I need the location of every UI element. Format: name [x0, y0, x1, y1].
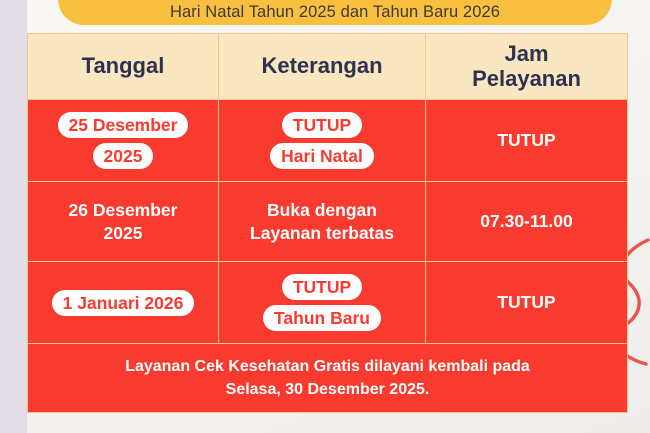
- column-header-jam-line1: Jam: [504, 41, 548, 66]
- cell-hours-3: TUTUP: [426, 262, 628, 344]
- background-left-band: [0, 0, 27, 433]
- cell-desc-1: TUTUPHari Natal: [219, 100, 426, 182]
- footer-note: Layanan Cek Kesehatan Gratis dilayani ke…: [28, 344, 628, 413]
- date-value-2-line2: 2025: [104, 223, 143, 243]
- footer-row: Layanan Cek Kesehatan Gratis dilayani ke…: [28, 344, 628, 413]
- desc-badge-3-line2: Tahun Baru: [274, 308, 370, 328]
- column-header-jam-line2: Pelayanan: [472, 66, 581, 91]
- cell-hours-1: TUTUP: [426, 100, 628, 182]
- desc-badge-3: TUTUPTahun Baru: [263, 274, 381, 330]
- table-header-row: Tanggal Keterangan Jam Pelayanan: [28, 34, 628, 100]
- date-badge-1: 25 Desember2025: [58, 112, 189, 168]
- table-header: Tanggal Keterangan Jam Pelayanan: [28, 34, 628, 100]
- cell-hours-2: 07.30-11.00: [426, 182, 628, 262]
- table-row: 1 Januari 2026 TUTUPTahun Baru TUTUP: [28, 262, 628, 344]
- cell-date-3: 1 Januari 2026: [28, 262, 219, 344]
- cell-desc-3: TUTUPTahun Baru: [219, 262, 426, 344]
- hours-value-2: 07.30-11.00: [480, 211, 572, 231]
- footer-note-line2: Selasa, 30 Desember 2025.: [226, 381, 430, 398]
- date-value-2-line1: 26 Desember: [69, 200, 178, 220]
- desc-value-2-line2: Layanan terbatas: [250, 223, 394, 243]
- hours-value-1: TUTUP: [497, 130, 555, 150]
- footer-note-line1: Layanan Cek Kesehatan Gratis dilayani ke…: [125, 358, 530, 375]
- column-header-jam-pelayanan: Jam Pelayanan: [426, 34, 628, 100]
- date-badge-1-line2: 2025: [104, 146, 143, 166]
- cell-date-1: 25 Desember2025: [28, 100, 219, 182]
- table-body: 25 Desember2025 TUTUPHari Natal TUTUP 26…: [28, 100, 628, 344]
- holiday-schedule-table: Tanggal Keterangan Jam Pelayanan 25 Dese…: [27, 33, 628, 413]
- column-header-keterangan: Keterangan: [219, 34, 426, 100]
- hours-value-3: TUTUP: [497, 292, 555, 312]
- desc-badge-3-line1: TUTUP: [293, 277, 351, 297]
- title-banner: Hari Natal Tahun 2025 dan Tahun Baru 202…: [58, 0, 612, 25]
- date-badge-3: 1 Januari 2026: [52, 290, 195, 316]
- table-footer: Layanan Cek Kesehatan Gratis dilayani ke…: [28, 344, 628, 413]
- desc-badge-1-line2: Hari Natal: [281, 146, 363, 166]
- cell-desc-2: Buka dengan Layanan terbatas: [219, 182, 426, 262]
- column-header-tanggal: Tanggal: [28, 34, 219, 100]
- date-badge-1-line1: 25 Desember: [69, 115, 178, 135]
- table-row: 26 Desember 2025 Buka dengan Layanan ter…: [28, 182, 628, 262]
- cell-date-2: 26 Desember 2025: [28, 182, 219, 262]
- desc-badge-1: TUTUPHari Natal: [270, 112, 374, 168]
- column-header-keterangan-label: Keterangan: [261, 53, 382, 78]
- column-header-tanggal-label: Tanggal: [82, 53, 165, 78]
- desc-value-2-line1: Buka dengan: [267, 200, 377, 220]
- desc-badge-1-line1: TUTUP: [293, 115, 351, 135]
- banner-title: Hari Natal Tahun 2025 dan Tahun Baru 202…: [170, 3, 500, 21]
- table-row: 25 Desember2025 TUTUPHari Natal TUTUP: [28, 100, 628, 182]
